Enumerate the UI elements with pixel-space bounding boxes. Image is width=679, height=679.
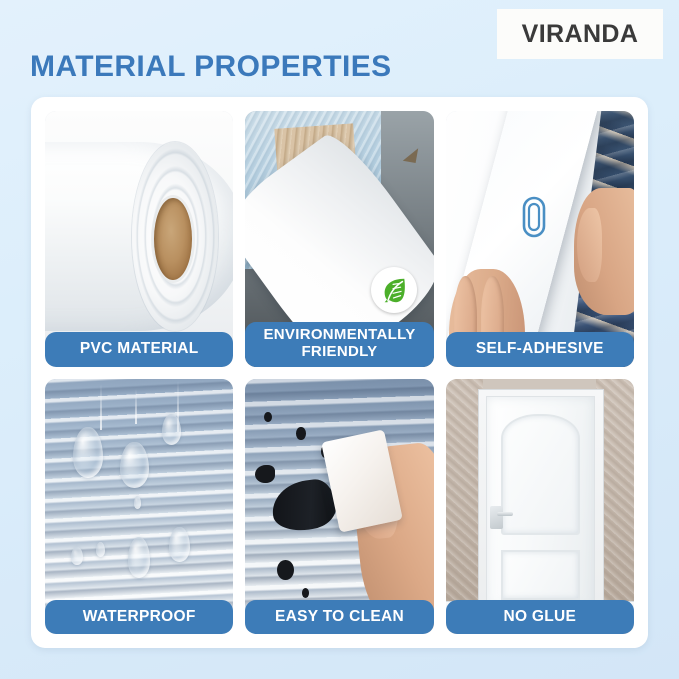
door-leaf <box>486 396 595 607</box>
ink-stain <box>269 476 339 533</box>
eco-leaf-badge <box>371 267 417 313</box>
waterproof-image <box>45 379 233 635</box>
water-droplet <box>71 547 82 565</box>
door-panel-top <box>501 414 580 535</box>
feature-card-easy-to-clean[interactable]: EASY TO CLEAN <box>245 379 433 635</box>
feature-label-waterproof: WATERPROOF <box>45 600 233 634</box>
pvc-roll-image <box>45 111 233 367</box>
label-line: NO GLUE <box>503 608 576 625</box>
paperclip-icon <box>521 195 547 239</box>
feature-label-no-glue: NO GLUE <box>446 600 634 634</box>
label-line: FRIENDLY <box>263 344 415 361</box>
feature-panel: PVC MATERIAL <box>31 97 648 648</box>
ink-stain <box>277 560 294 580</box>
leaf-icon <box>379 275 409 305</box>
water-droplet <box>128 537 151 578</box>
door-handle-icon <box>490 506 503 529</box>
feature-label-environmentally-friendly: ENVIRONMENTALLY FRIENDLY <box>245 322 433 367</box>
water-droplet <box>120 442 148 488</box>
label-line: EASY TO CLEAN <box>275 608 404 625</box>
water-droplet <box>73 427 103 478</box>
feature-label-pvc-material: PVC MATERIAL <box>45 332 233 366</box>
infographic-page: VIRANDA MATERIAL PROPERTIES PVC MATERIAL <box>0 0 679 679</box>
ink-stain <box>264 412 272 422</box>
feature-card-environmentally-friendly[interactable]: ENVIRONMENTALLY FRIENDLY <box>245 111 433 367</box>
brand-logo-text: VIRANDA <box>522 20 639 49</box>
water-droplet <box>162 414 181 445</box>
easy-to-clean-image <box>245 379 433 635</box>
ink-stain <box>296 427 305 440</box>
eco-peel-corner <box>403 146 418 163</box>
feature-grid: PVC MATERIAL <box>45 111 634 634</box>
label-line: WATERPROOF <box>83 608 196 625</box>
label-line: ENVIRONMENTALLY <box>263 327 415 344</box>
label-line: PVC MATERIAL <box>80 340 199 357</box>
water-droplet <box>96 542 105 557</box>
feature-label-self-adhesive: SELF-ADHESIVE <box>446 332 634 366</box>
water-droplet <box>134 496 142 509</box>
roll-core-icon <box>154 198 192 280</box>
feature-card-waterproof[interactable]: WATERPROOF <box>45 379 233 635</box>
no-glue-door-image <box>446 379 634 635</box>
ink-stain <box>255 465 276 483</box>
water-droplet <box>169 527 190 563</box>
door-frame <box>478 389 604 609</box>
door-panel-bottom <box>501 550 580 600</box>
feature-card-no-glue[interactable]: NO GLUE <box>446 379 634 635</box>
page-title: MATERIAL PROPERTIES <box>30 50 392 84</box>
brand-logo: VIRANDA <box>497 9 663 59</box>
self-adhesive-image <box>446 111 634 367</box>
label-line: SELF-ADHESIVE <box>476 340 604 357</box>
feature-card-pvc-material[interactable]: PVC MATERIAL <box>45 111 233 367</box>
ink-stain <box>302 588 310 598</box>
water-trail <box>135 389 137 425</box>
water-trail <box>100 384 102 430</box>
feature-label-easy-to-clean: EASY TO CLEAN <box>245 600 433 634</box>
feature-card-self-adhesive[interactable]: SELF-ADHESIVE <box>446 111 634 367</box>
right-hand <box>574 188 634 316</box>
cleaning-cloth <box>321 429 403 532</box>
